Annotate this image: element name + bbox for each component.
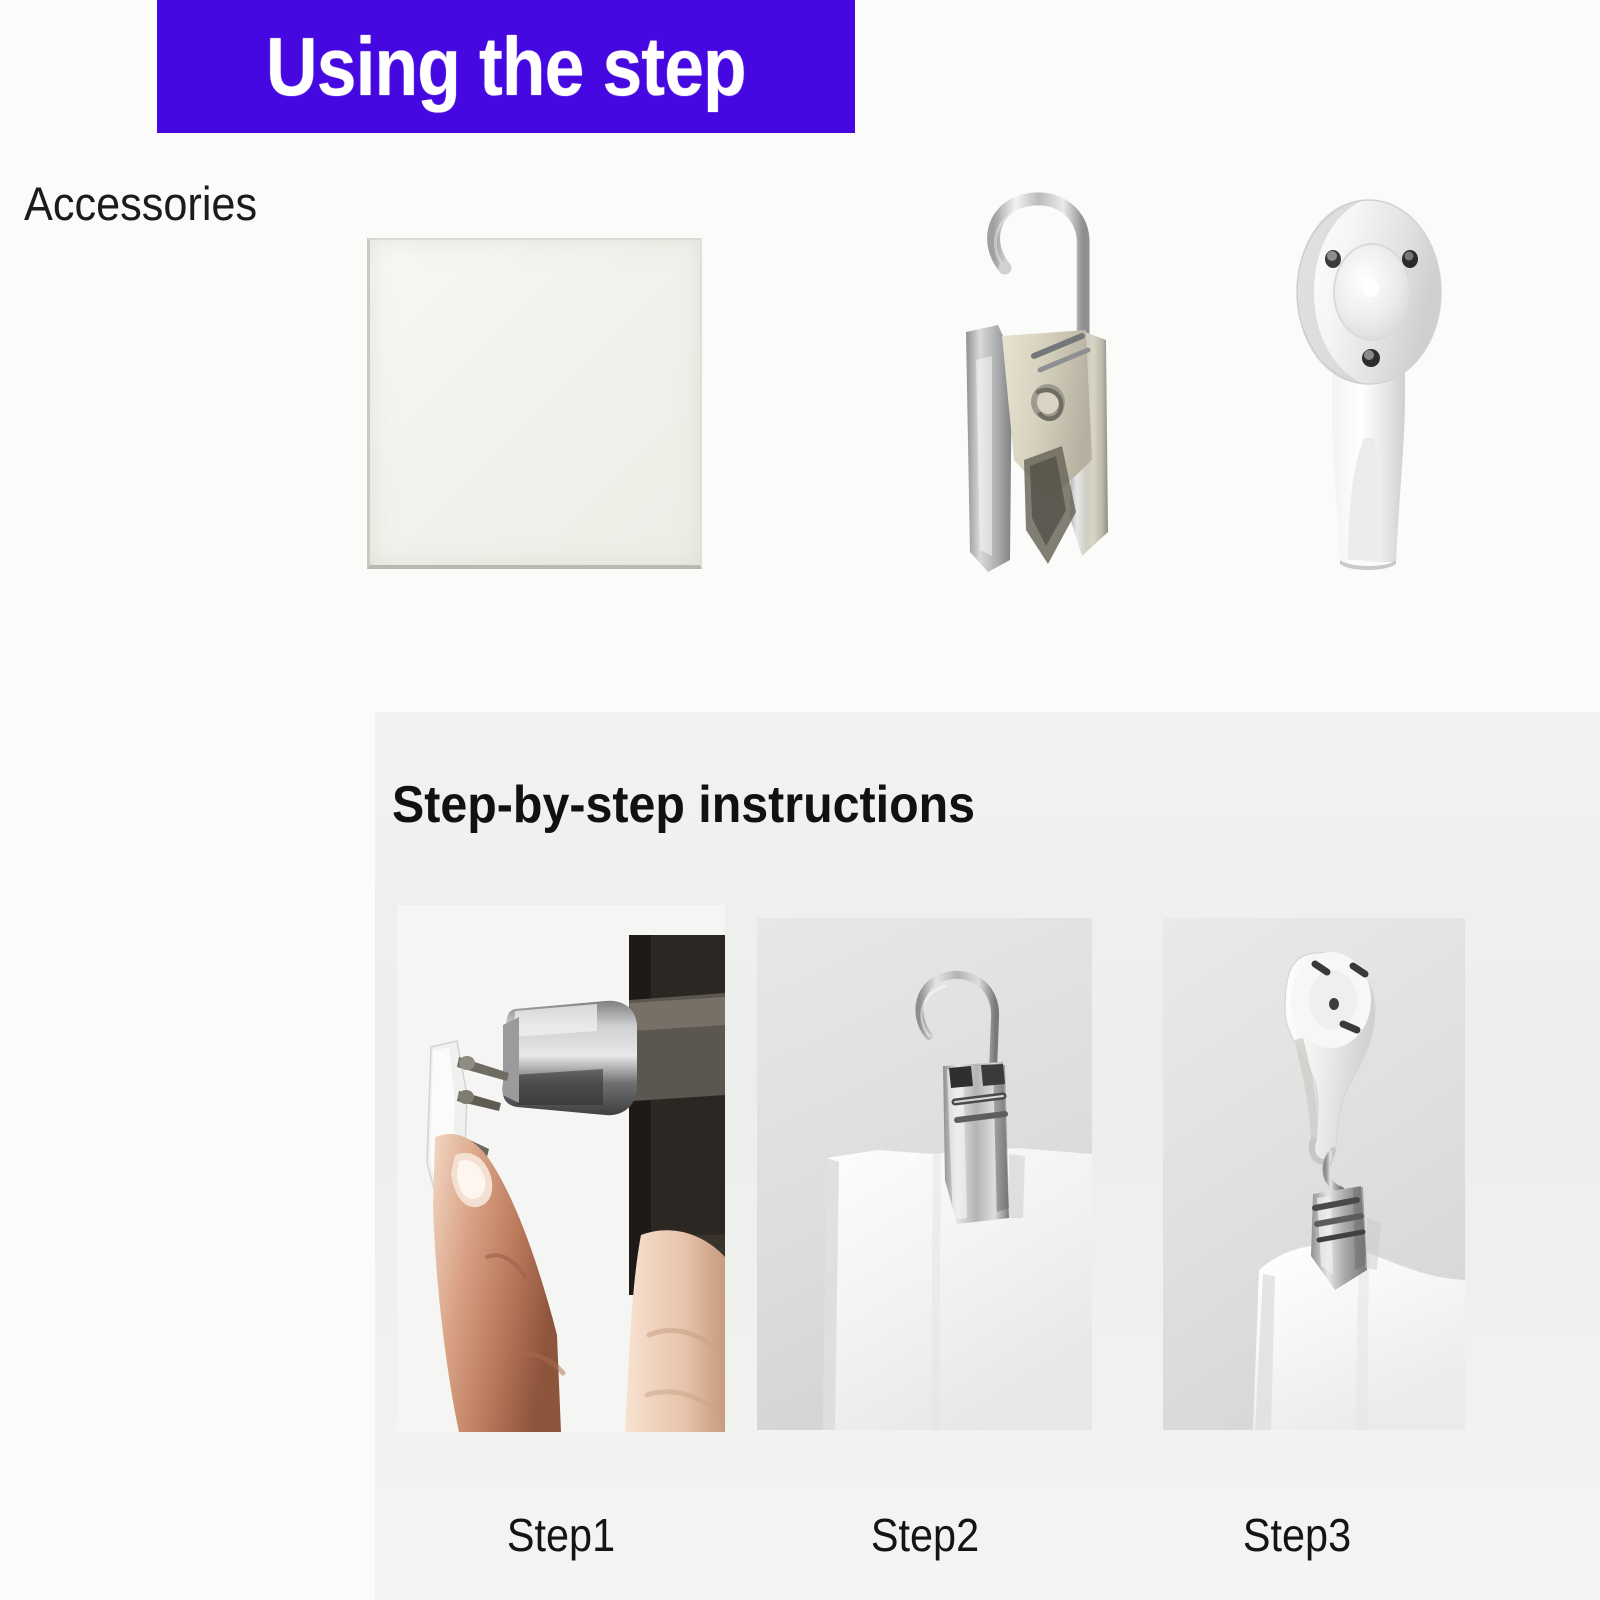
hammer-nailing-hook-icon bbox=[397, 905, 725, 1432]
title-banner: Using the step bbox=[157, 0, 855, 133]
step-image-3 bbox=[1163, 918, 1465, 1430]
accessory-item-nails bbox=[1268, 162, 1478, 582]
clip-holding-sheet-icon bbox=[757, 918, 1092, 1430]
infographic-page: Using the step Accessories bbox=[0, 0, 1600, 1600]
step-image-2 bbox=[757, 918, 1092, 1430]
mounted-hook-with-clip-icon bbox=[1163, 918, 1465, 1430]
wall-hook-nail-icon bbox=[1268, 162, 1478, 582]
accessories-row: sticky 2 hangers 2 nails bbox=[0, 150, 1600, 670]
accessory-item-hangers bbox=[930, 160, 1160, 580]
step-label-2: Step2 bbox=[826, 1508, 1024, 1562]
instructions-heading: Step-by-step instructions bbox=[392, 775, 975, 835]
page-title: Using the step bbox=[266, 25, 746, 108]
step-label-3: Step3 bbox=[1198, 1508, 1396, 1562]
adhesive-pad-icon bbox=[367, 238, 702, 569]
hanger-clip-icon bbox=[930, 160, 1160, 580]
accessory-item-sticky bbox=[367, 238, 697, 563]
step-image-1 bbox=[397, 905, 725, 1432]
step-label-1: Step1 bbox=[462, 1508, 660, 1562]
